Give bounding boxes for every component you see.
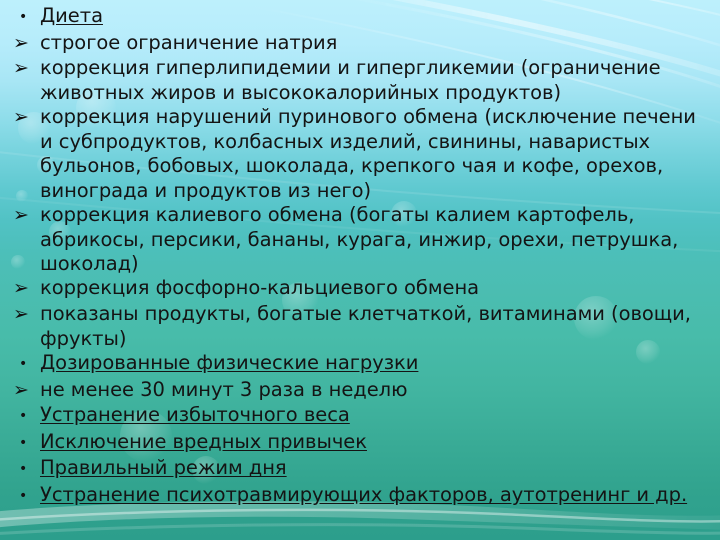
- list-item: ➢коррекция гиперлипидемии и гипергликеми…: [8, 56, 712, 105]
- list-item-text: Исключение вредных привычек: [40, 430, 712, 454]
- list-item-text: Правильный режим дня: [40, 456, 712, 480]
- list-item-text: коррекция гиперлипидемии и гипергликемии…: [40, 56, 712, 105]
- dot-bullet-icon: •: [12, 403, 40, 430]
- list-item-text: коррекция калиевого обмена (богаты калие…: [40, 203, 712, 276]
- list-item: •Дозированные физические нагрузки: [8, 351, 712, 378]
- arrow-bullet-icon: ➢: [10, 31, 40, 57]
- list-item-text: Диета: [40, 4, 712, 28]
- slide-canvas: •Диета➢строгое ограничение натрия➢коррек…: [0, 0, 720, 540]
- dot-bullet-icon: •: [12, 4, 40, 31]
- list-item: •Исключение вредных привычек: [8, 430, 712, 457]
- arrow-bullet-icon: ➢: [10, 56, 40, 82]
- list-item: ➢коррекция калиевого обмена (богаты кали…: [8, 203, 712, 276]
- list-item-text: Устранение психотравмирующих факторов, а…: [40, 483, 712, 507]
- list-item-text: Устранение избыточного веса: [40, 403, 712, 427]
- dot-bullet-icon: •: [12, 456, 40, 483]
- list-item-text: коррекция фосфорно-кальциевого обмена: [40, 276, 712, 300]
- arrow-bullet-icon: ➢: [10, 302, 40, 328]
- list-item: ➢строгое ограничение натрия: [8, 31, 712, 57]
- arrow-bullet-icon: ➢: [10, 378, 40, 404]
- list-item: •Устранение психотравмирующих факторов, …: [8, 483, 712, 510]
- list-item: ➢коррекция фосфорно-кальциевого обмена: [8, 276, 712, 302]
- arrow-bullet-icon: ➢: [10, 203, 40, 229]
- list-item: ➢показаны продукты, богатые клетчаткой, …: [8, 302, 712, 351]
- list-item: •Диета: [8, 4, 712, 31]
- arrow-bullet-icon: ➢: [10, 105, 40, 131]
- bullet-list: •Диета➢строгое ограничение натрия➢коррек…: [0, 0, 720, 510]
- list-item: •Устранение избыточного веса: [8, 403, 712, 430]
- list-item-text: Дозированные физические нагрузки: [40, 351, 712, 375]
- list-item-text: строгое ограничение натрия: [40, 31, 712, 55]
- arrow-bullet-icon: ➢: [10, 276, 40, 302]
- list-item: ➢не менее 30 минут 3 раза в неделю: [8, 378, 712, 404]
- dot-bullet-icon: •: [12, 351, 40, 378]
- list-item: ➢коррекция нарушений пуринового обмена (…: [8, 105, 712, 203]
- dot-bullet-icon: •: [12, 430, 40, 457]
- list-item-text: коррекция нарушений пуринового обмена (и…: [40, 105, 712, 203]
- dot-bullet-icon: •: [12, 483, 40, 510]
- list-item-text: не менее 30 минут 3 раза в неделю: [40, 378, 712, 402]
- list-item-text: показаны продукты, богатые клетчаткой, в…: [40, 302, 712, 351]
- list-item: •Правильный режим дня: [8, 456, 712, 483]
